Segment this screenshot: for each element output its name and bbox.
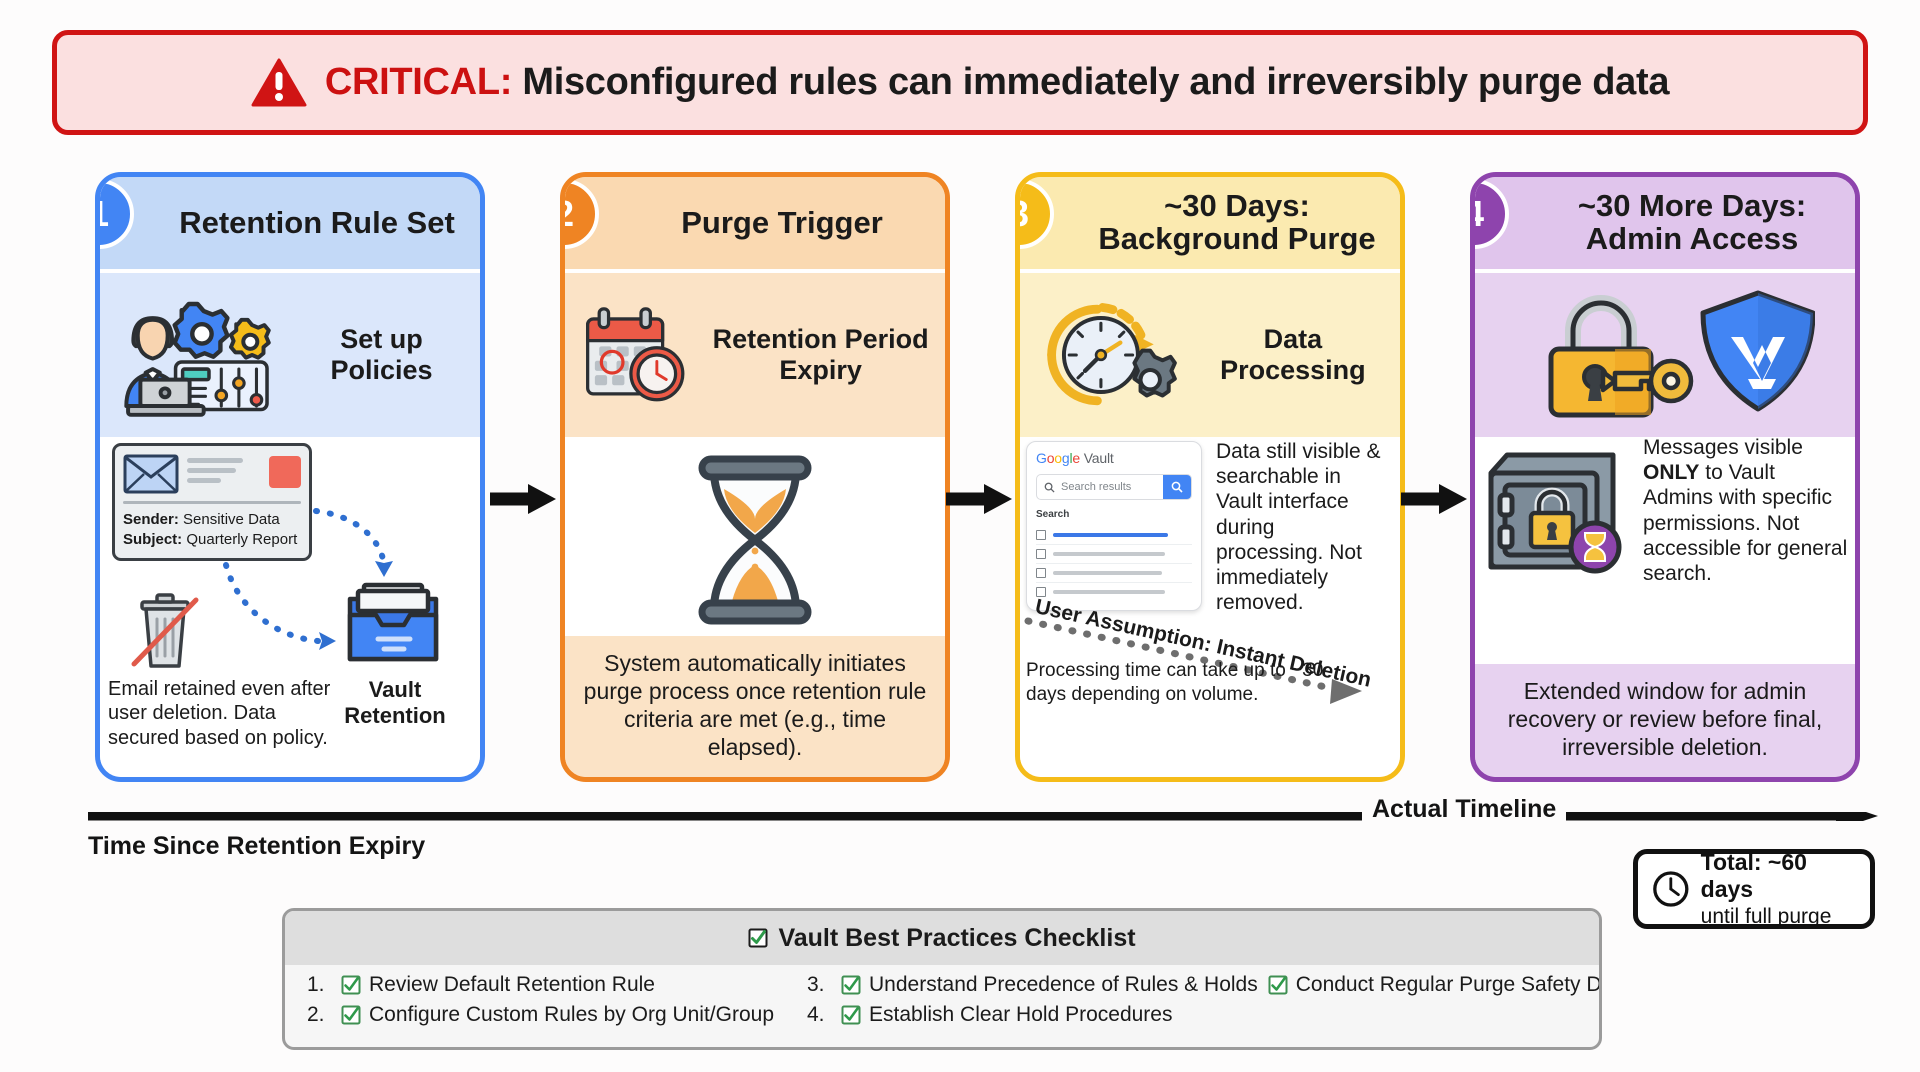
safe-vault-hourglass-icon (1483, 447, 1633, 577)
checklist-item-number: 1. (307, 973, 333, 997)
vault-section-label: Search (1036, 509, 1192, 520)
vault-result-row[interactable] (1036, 583, 1192, 601)
panel3-header: 3 ~30 Days: Background Purge (1020, 177, 1400, 269)
checkbox-checked-icon (748, 928, 768, 948)
checkbox-checked-icon[interactable] (341, 1005, 361, 1025)
vault-result-row[interactable] (1036, 545, 1192, 564)
checklist-item-number: 2. (307, 1003, 333, 1027)
panel1-title: Retention Rule Set (179, 207, 455, 240)
padlock-key-shield-icon (1515, 285, 1815, 425)
panel-purge-trigger[interactable]: 2 Purge Trigger (560, 172, 950, 782)
email-card: Sender: Sensitive Data Subject: Quarterl… (112, 443, 312, 561)
checklist-item-number: 3. (807, 973, 833, 997)
panel4-note-bold: ONLY (1643, 461, 1699, 484)
email-sender-line: Sender: Sensitive Data (123, 510, 301, 530)
checkbox-checked-icon[interactable] (841, 975, 861, 995)
email-subject-value: Quarterly Report (186, 531, 297, 548)
best-practices-checklist: Vault Best Practices Checklist 1. Review… (282, 908, 1602, 1050)
panel4-footer: Extended window for admin recovery or re… (1475, 664, 1855, 777)
checklist-item[interactable]: 2. Configure Custom Rules by Org Unit/Gr… (307, 1003, 807, 1027)
banner-message: Misconfigured rules can immediately and … (522, 61, 1669, 103)
hourglass-icon (680, 445, 830, 635)
warning-triangle-icon (251, 58, 307, 108)
checklist-item[interactable]: Conduct Regular Purge Safety Drills (1268, 973, 1602, 997)
checklist-header: Vault Best Practices Checklist (285, 911, 1599, 965)
checklist-item-label: Understand Precedence of Rules & Holds (869, 973, 1258, 997)
email-sender-value: Sensitive Data (183, 511, 280, 528)
panel2-body (565, 437, 945, 636)
checklist-item-label: Review Default Retention Rule (369, 973, 655, 997)
google-vault-mock-ui[interactable]: Google Vault Search results (1026, 441, 1202, 611)
panel-admin-access[interactable]: 4 ~30 More Days: Admin Access (1470, 172, 1860, 782)
checklist-item[interactable]: 4. Establish Clear Hold Procedures (807, 1003, 1602, 1027)
panel4-note-pre: Messages visible (1643, 436, 1803, 459)
step-badge-2: 2 (560, 179, 599, 249)
checkbox-icon[interactable] (1036, 549, 1046, 559)
calendar-clock-icon (579, 285, 694, 425)
panel2-header: 2 Purge Trigger (565, 177, 945, 269)
banner-text: CRITICAL: Misconfigured rules can immedi… (325, 61, 1669, 104)
panel3-illustration-row: Data Processing (1020, 269, 1400, 437)
panel1-body: Sender: Sensitive Data Subject: Quarterl… (100, 437, 480, 777)
arrow-panel3-to-panel4 (1401, 482, 1467, 516)
panel3-note: Data still visible & searchable in Vault… (1216, 439, 1384, 615)
panel1-mid-label: Set up Policies (297, 324, 466, 386)
checklist-item-label: Configure Custom Rules by Org Unit/Group (369, 1003, 774, 1027)
checklist-item-label: Establish Clear Hold Procedures (869, 1003, 1172, 1027)
panel2-title: Purge Trigger (681, 207, 883, 240)
total-duration-badge: Total: ~60 days until full purge (1633, 849, 1875, 929)
google-vault-logo: Google Vault (1036, 450, 1192, 466)
envelope-icon (123, 454, 179, 494)
arrow-panel2-to-panel3 (946, 482, 1012, 516)
vault-search-button[interactable] (1163, 475, 1191, 499)
panel4-title: ~30 More Days: Admin Access (1543, 190, 1841, 256)
email-attachment-block (269, 456, 301, 488)
arrow-panel1-to-panel2 (490, 482, 556, 516)
panel4-illustration-row (1475, 269, 1855, 437)
panel3-mid-label: Data Processing (1200, 324, 1386, 386)
vault-search-bar[interactable]: Search results (1036, 474, 1192, 500)
panel4-header: 4 ~30 More Days: Admin Access (1475, 177, 1855, 269)
panel3-footer: Processing time can take up to ~30 days … (1026, 659, 1326, 707)
timeline-left-label: Time Since Retention Expiry (88, 832, 425, 861)
checklist-item[interactable]: 3. Understand Precedence of Rules & Hold… (807, 973, 1258, 997)
banner-critical-word: CRITICAL: (325, 61, 512, 103)
vault-result-row[interactable] (1036, 526, 1192, 545)
panel4-body: Messages visible ONLY to Vault Admins wi… (1475, 437, 1855, 664)
vault-retention-tray-icon (338, 577, 448, 669)
infographic-root: CRITICAL: Misconfigured rules can immedi… (0, 0, 1920, 1072)
checklist-item-number: 4. (807, 1003, 833, 1027)
vault-result-row[interactable] (1036, 564, 1192, 583)
email-subject-line: Subject: Quarterly Report (123, 530, 301, 550)
checkbox-checked-icon[interactable] (1268, 975, 1288, 995)
panel-background-purge[interactable]: 3 ~30 Days: Background Purge (1015, 172, 1405, 782)
search-icon (1037, 482, 1061, 493)
panel-retention-rule-set[interactable]: 1 Retention Rule Set (95, 172, 485, 782)
timeline-axis-arrow (88, 812, 1878, 821)
checklist-item-label: Conduct Regular Purge Safety Drills (1296, 973, 1602, 997)
panel1-vault-label: Vault Retention (320, 677, 470, 729)
total-badge-line1: Total: ~60 days (1701, 849, 1856, 904)
panel3-body: Google Vault Search results (1020, 437, 1400, 777)
clock-icon (1652, 869, 1690, 909)
step-badge-1: 1 (95, 179, 134, 249)
panel4-note: Messages visible ONLY to Vault Admins wi… (1643, 435, 1849, 586)
step-badge-4: 4 (1470, 179, 1509, 249)
email-sender-label: Sender: (123, 511, 179, 528)
checklist-item[interactable]: 1. Review Default Retention Rule (307, 973, 807, 997)
step-badge-3: 3 (1015, 179, 1054, 249)
timeline-right-label: Actual Timeline (1362, 795, 1566, 824)
checkbox-icon[interactable] (1036, 568, 1046, 578)
panel2-footer: System automatically initiates purge pro… (565, 636, 945, 777)
panel1-header: 1 Retention Rule Set (100, 177, 480, 269)
panel1-note: Email retained even after user deletion.… (108, 677, 338, 750)
panel1-illustration-row: Set up Policies (100, 269, 480, 437)
checklist-title: Vault Best Practices Checklist (778, 924, 1135, 953)
clock-gear-processing-icon (1034, 285, 1184, 425)
no-delete-trash-icon (122, 592, 208, 672)
panel2-mid-label: Retention Period Expiry (710, 324, 931, 386)
critical-warning-banner: CRITICAL: Misconfigured rules can immedi… (52, 30, 1868, 135)
total-badge-line2: until full purge (1701, 905, 1832, 928)
admin-settings-gears-icon (114, 285, 281, 425)
panel2-illustration-row: Retention Period Expiry (565, 269, 945, 437)
vault-search-placeholder: Search results (1061, 481, 1163, 493)
email-subject-label: Subject: (123, 531, 182, 548)
vault-wordmark: Vault (1084, 450, 1114, 466)
panel3-title: ~30 Days: Background Purge (1088, 190, 1386, 256)
checkbox-icon[interactable] (1036, 530, 1046, 540)
checkbox-checked-icon[interactable] (841, 1005, 861, 1025)
checkbox-checked-icon[interactable] (341, 975, 361, 995)
